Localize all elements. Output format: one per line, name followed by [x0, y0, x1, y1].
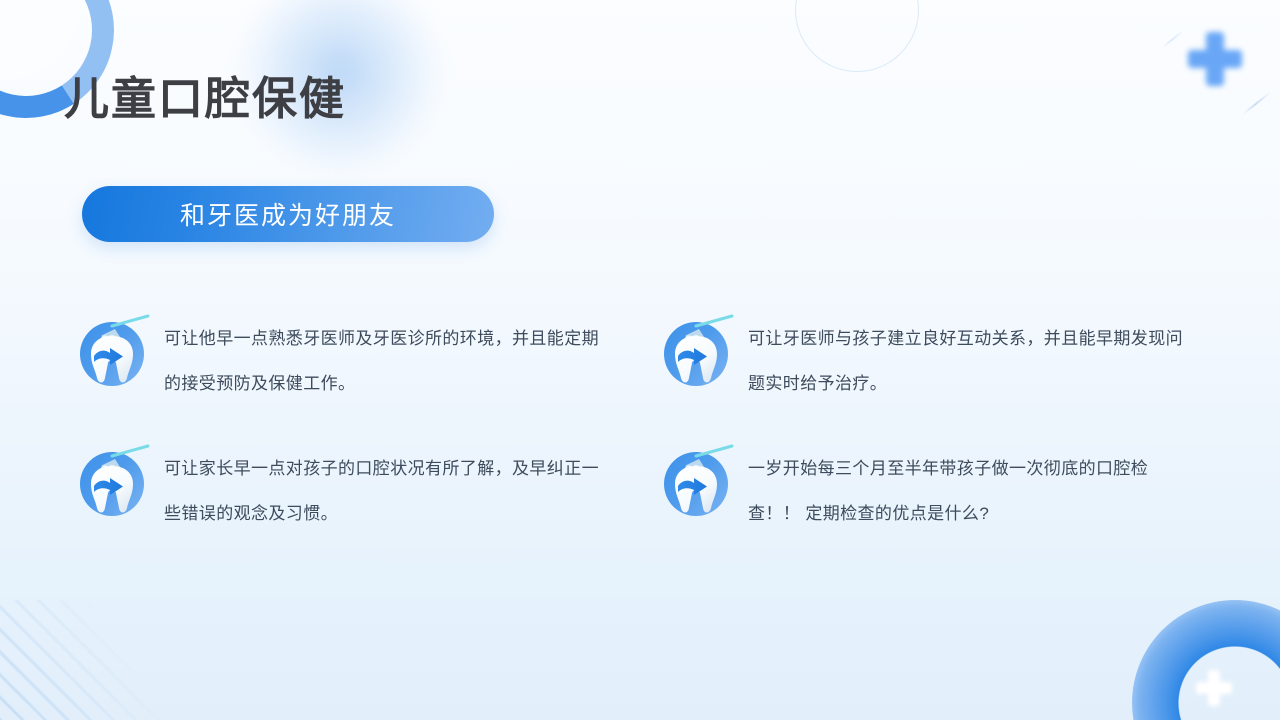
bullet-grid: 可让他早一点熟悉牙医师及牙医诊所的环境，并且能定期的接受预防及保健工作。 可让牙…: [74, 312, 1206, 536]
tooth-brush-icon: [74, 444, 150, 520]
circle-outline-top-center-decoration: [795, 0, 919, 72]
cross-bottom-right-icon: [1196, 670, 1232, 706]
bullet-item-text: 一岁开始每三个月至半年带孩子做一次彻底的口腔检查！！ 定期检查的优点是什么?: [748, 446, 1188, 536]
bullet-item: 可让他早一点熟悉牙医师及牙医诊所的环境，并且能定期的接受预防及保健工作。: [74, 312, 622, 406]
diagonal-dash-top-right-decoration: [1243, 92, 1271, 115]
bullet-item: 可让牙医师与孩子建立良好互动关系，并且能早期发现问题实时给予治疗。: [658, 312, 1206, 406]
bullet-item-text: 可让牙医师与孩子建立良好互动关系，并且能早期发现问题实时给予治疗。: [748, 316, 1188, 406]
tooth-brush-icon: [74, 314, 150, 390]
tooth-brush-icon: [658, 314, 734, 390]
ring-bottom-right-decoration: [1132, 600, 1280, 720]
tooth-brush-icon: [658, 444, 734, 520]
bullet-item-text: 可让家长早一点对孩子的口腔状况有所了解，及早纠正一些错误的观念及习惯。: [164, 446, 604, 536]
diagonal-dash-upper-right-decoration: [1162, 30, 1184, 48]
bullet-item: 一岁开始每三个月至半年带孩子做一次彻底的口腔检查！！ 定期检查的优点是什么?: [658, 442, 1206, 536]
subtitle-pill: 和牙医成为好朋友: [82, 186, 494, 242]
diagonal-hatch-bottom-left-decoration: [0, 600, 190, 720]
slide-canvas: 儿童口腔保健 和牙医成为好朋友: [0, 0, 1280, 720]
page-title: 儿童口腔保健: [64, 62, 346, 127]
subtitle-pill-label: 和牙医成为好朋友: [180, 196, 396, 232]
bullet-item-text: 可让他早一点熟悉牙医师及牙医诊所的环境，并且能定期的接受预防及保健工作。: [164, 316, 604, 406]
bullet-item: 可让家长早一点对孩子的口腔状况有所了解，及早纠正一些错误的观念及习惯。: [74, 442, 622, 536]
plus-top-right-icon: [1188, 32, 1242, 86]
